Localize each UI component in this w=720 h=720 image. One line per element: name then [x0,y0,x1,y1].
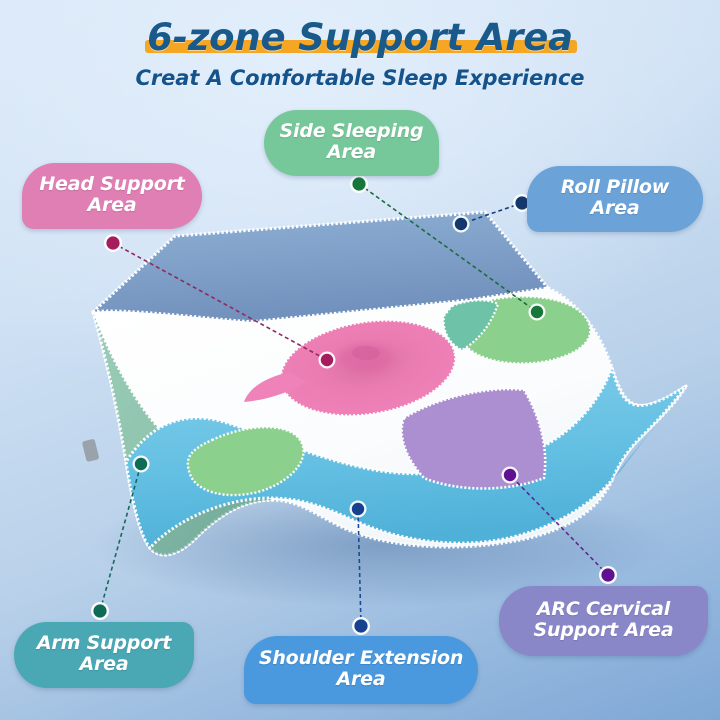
dot-label-arm-support[interactable] [91,602,109,620]
callout-roll-pillow[interactable]: Roll Pillow Area [527,166,703,232]
fabric-tag [82,439,100,463]
dot-target-arm-support[interactable] [133,456,150,473]
page-title: 6-zone Support Area [141,16,579,59]
callout-shoulder-extension-line1: Shoulder Extension [259,648,463,669]
callout-shoulder-extension[interactable]: Shoulder Extension Area [244,636,478,704]
callout-side-sleeping-line2: Area [280,142,424,163]
dot-label-arc-cervical[interactable] [599,566,617,584]
head-cradle-dimple-core [352,346,380,360]
dot-target-head-support[interactable] [319,352,336,369]
dot-target-side-sleeping[interactable] [529,304,546,321]
dot-label-head-support[interactable] [104,234,122,252]
callout-arc-cervical[interactable]: ARC Cervical Support Area [499,586,708,656]
dot-target-shoulder-extension[interactable] [350,501,367,518]
callout-head-support-line2: Area [39,195,184,216]
callout-shoulder-extension-line2: Area [259,669,463,690]
callout-arm-support[interactable]: Arm Support Area [14,622,194,688]
infographic-canvas: 6-zone Support Area Creat A Comfortable … [0,0,720,720]
dot-target-arc-cervical[interactable] [502,467,519,484]
callout-head-support[interactable]: Head Support Area [22,163,202,229]
dot-label-side-sleeping[interactable] [350,175,368,193]
title-wrap: 6-zone Support Area [141,16,579,59]
callout-arc-cervical-line1: ARC Cervical [534,599,674,620]
dot-target-roll-pillow[interactable] [453,216,470,233]
callout-head-support-line1: Head Support [39,174,184,195]
callout-side-sleeping[interactable]: Side Sleeping Area [264,110,439,176]
dot-label-shoulder-extension[interactable] [352,617,370,635]
callout-roll-pillow-line2: Area [561,198,669,219]
callout-side-sleeping-line1: Side Sleeping [280,121,424,142]
callout-arm-support-line1: Arm Support [37,633,171,654]
callout-arc-cervical-line2: Support Area [534,620,674,641]
callout-roll-pillow-line1: Roll Pillow [561,177,669,198]
callout-arm-support-line2: Area [37,654,171,675]
